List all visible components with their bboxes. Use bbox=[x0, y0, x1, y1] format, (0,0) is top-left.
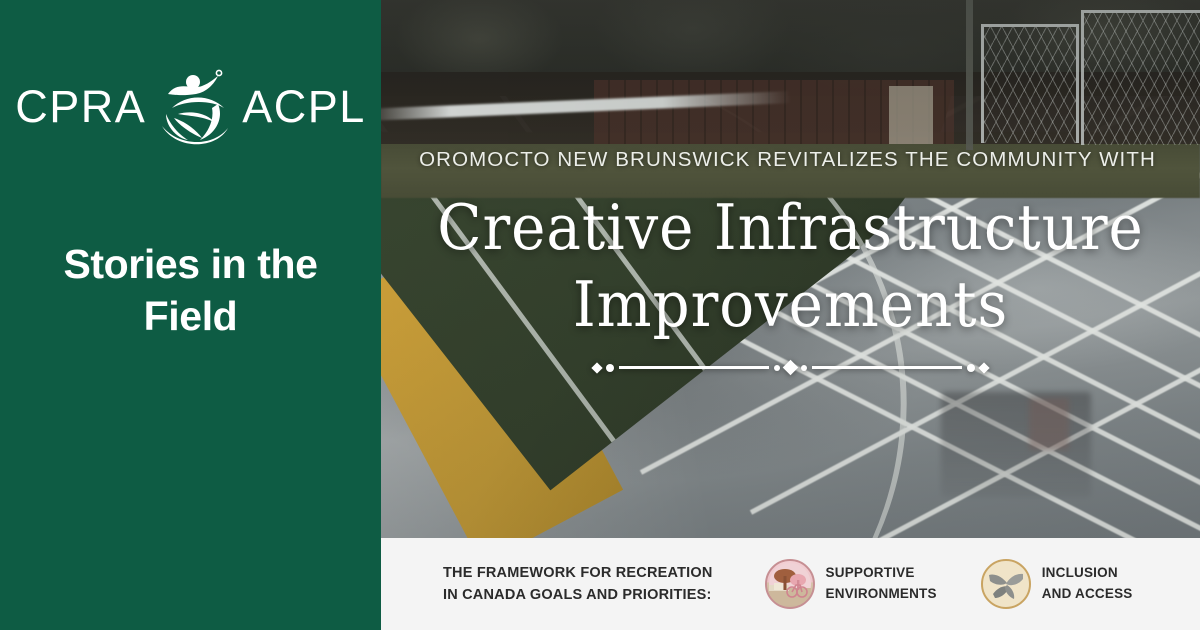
divider-rule bbox=[619, 366, 769, 369]
goal-inclusion-and-access[interactable]: INCLUSION AND ACCESS bbox=[981, 559, 1133, 609]
divider-diamond-icon bbox=[978, 362, 989, 373]
stories-in-the-field-poster: CPRA ACPL S bbox=[0, 0, 1200, 630]
hero-title-line-1: Creative Infrastructure bbox=[414, 196, 1167, 259]
hero-photo: OROMOCTO NEW BRUNSWICK REVITALIZES THE C… bbox=[381, 0, 1200, 538]
divider-rule bbox=[812, 366, 962, 369]
ornamental-divider bbox=[381, 362, 1200, 373]
left-brand-panel: CPRA ACPL S bbox=[0, 0, 381, 630]
tree-bench-bicycle-badge-icon bbox=[765, 559, 815, 609]
cpra-leaf-figure-logo-icon bbox=[152, 64, 236, 152]
brand-word-cpra: CPRA bbox=[15, 84, 146, 133]
divider-dot-icon bbox=[606, 364, 614, 372]
hero-text-overlay: OROMOCTO NEW BRUNSWICK REVITALIZES THE C… bbox=[381, 0, 1200, 538]
framework-footer-bar: THE FRAMEWORK FOR RECREATION IN CANADA G… bbox=[381, 538, 1200, 630]
divider-dot-icon bbox=[774, 365, 780, 371]
hands-together-badge-icon bbox=[981, 559, 1031, 609]
goal-label-inclusion-and-access: INCLUSION AND ACCESS bbox=[1042, 563, 1133, 604]
divider-dot-icon bbox=[967, 364, 975, 372]
divider-diamond-icon bbox=[783, 360, 799, 376]
goal-label-supportive-environments: SUPPORTIVE ENVIRONMENTS bbox=[826, 563, 937, 604]
goal-supportive-environments[interactable]: SUPPORTIVE ENVIRONMENTS bbox=[765, 559, 937, 609]
hero-kicker: OROMOCTO NEW BRUNSWICK REVITALIZES THE C… bbox=[381, 148, 1200, 172]
divider-diamond-icon bbox=[591, 362, 602, 373]
brand-word-acpl: ACPL bbox=[242, 84, 366, 133]
divider-dot-icon bbox=[801, 365, 807, 371]
cpra-acpl-logo-lockup: CPRA ACPL bbox=[0, 62, 381, 154]
framework-label: THE FRAMEWORK FOR RECREATION IN CANADA G… bbox=[443, 562, 713, 606]
page-title: Stories in the Field bbox=[0, 238, 381, 343]
hero-title-line-2: Improvements bbox=[414, 273, 1167, 336]
